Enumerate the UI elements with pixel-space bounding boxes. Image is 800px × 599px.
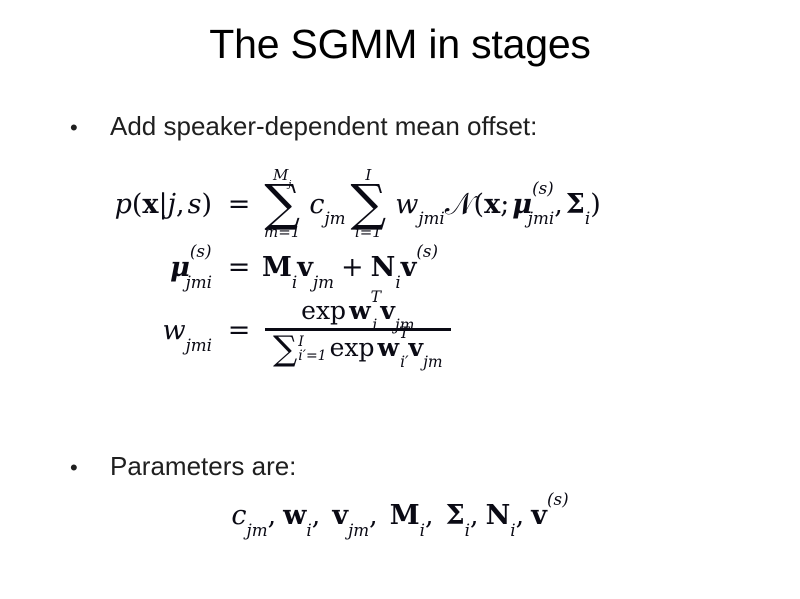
equation-mean-rhs: Mivjm + Niv(s)	[262, 252, 438, 283]
symbol-w-sub: jmi	[418, 208, 444, 228]
den-weight-vector: wTi′	[377, 333, 408, 362]
mean-mu: μ(s)jmi	[512, 189, 554, 220]
equation-weights-rhs: expwTivjm ∑Ii′=1expwTi′vjm	[262, 297, 454, 364]
symbol-x: x	[142, 189, 158, 220]
param-M: Mi	[390, 500, 425, 531]
vector-v-speaker: v(s)	[401, 252, 438, 283]
param-w-symbol: w	[283, 500, 306, 531]
num-weight-vector: wTi	[349, 296, 377, 325]
sigma-glyph-2: ∑	[351, 182, 387, 225]
symbol-w: w	[395, 189, 418, 220]
symbol-v1: v	[297, 252, 313, 283]
symbol-N-sub: i	[395, 272, 400, 292]
page-title: The SGMM in stages	[0, 22, 800, 67]
param-M-symbol: M	[390, 500, 420, 531]
summation-over-m: Mj ∑ m=1	[264, 168, 300, 240]
limit-M-sub: j	[288, 179, 291, 190]
symbol-den-w-sup: T	[399, 324, 409, 342]
den-v-vector: vjm	[409, 333, 443, 362]
bullet-text-2: Parameters are:	[110, 452, 296, 482]
bullet-marker-icon-2: •	[70, 457, 110, 479]
parameters-list: cjm,wi,vjm,Mi,Σi,Ni,v(s)	[0, 500, 800, 531]
equals-sign-3: =	[216, 315, 262, 346]
equation-mean-lhs: μ(s)jmi	[44, 252, 216, 283]
symbol-w-2-sub: jmi	[186, 335, 212, 355]
param-v-sub: jm	[348, 520, 369, 540]
summation-lower-limit-i: i=1	[355, 225, 382, 240]
symbol-mu-2-sup: (s)	[190, 241, 212, 261]
symbol-num-w: w	[349, 296, 371, 325]
param-sep-2: ,	[312, 500, 321, 531]
matrix-N: Ni	[371, 252, 401, 283]
symbol-sigma-sub: i	[585, 208, 590, 228]
param-N-symbol: N	[486, 500, 511, 531]
symbol-N: N	[371, 252, 396, 283]
exp-operator-num: exp	[301, 296, 346, 325]
summation-limits-i-prime: Ii′=1	[298, 335, 326, 364]
symbol-v2: v	[401, 252, 417, 283]
sigma-glyph-3: ∑	[273, 336, 297, 363]
symbol-den-w-sub: i′	[400, 353, 408, 371]
bullet-marker-icon: •	[70, 117, 110, 139]
equation-mean: μ(s)jmi = Mivjm + Niv(s)	[44, 252, 764, 283]
symbol-mid: |	[159, 189, 168, 220]
den-sum-lower: i′=1	[298, 349, 326, 364]
symbol-v1-sub: jm	[313, 272, 334, 292]
paren-open: (	[132, 189, 143, 220]
coefficient-c: cjm	[309, 189, 345, 220]
equation-likelihood-lhs: p(x|j,s)	[44, 189, 216, 220]
summation-lower-limit-m: m=1	[264, 225, 300, 240]
paren-close: )	[201, 189, 212, 220]
symbol-w-2: w	[162, 315, 185, 346]
semicolon: ;	[500, 189, 509, 220]
symbol-mu-sup: (s)	[532, 178, 554, 198]
equals-sign-1: =	[216, 189, 262, 220]
vector-v-jm: vjm	[297, 252, 334, 283]
softmax-fraction: expwTivjm ∑Ii′=1expwTi′vjm	[265, 297, 451, 364]
weight-w-lhs: wjmi	[162, 315, 212, 346]
mean-mu-lhs: μ(s)jmi	[170, 252, 212, 283]
weight-w: wjmi	[395, 189, 445, 220]
param-sep-6: ,	[516, 500, 525, 531]
equals-sign-2: =	[216, 252, 262, 283]
bullet-item-1: • Add speaker-dependent mean offset:	[70, 112, 537, 142]
comma-2: ,	[554, 189, 563, 220]
symbol-M-sub: i	[292, 272, 297, 292]
param-c: cjm	[231, 500, 267, 531]
param-c-sub: jm	[247, 520, 268, 540]
slide-canvas: The SGMM in stages • Add speaker-depende…	[0, 0, 800, 599]
symbol-num-v: v	[380, 296, 395, 325]
symbol-p: p	[115, 189, 132, 220]
param-sep-4: ,	[425, 500, 434, 531]
symbol-num-w-sub: i	[372, 316, 377, 334]
param-Sigma-symbol: Σ	[446, 500, 465, 531]
equation-likelihood-rhs: Mj ∑ m=1 cjm I ∑ i=1 wjmi 𝒩(x;μ(s)jmi,Σi…	[262, 168, 601, 240]
param-v-jm: vjm	[332, 500, 369, 531]
matrix-M: Mi	[262, 252, 297, 283]
gaussian-symbol: 𝒩	[445, 187, 474, 222]
param-v-symbol: v	[332, 500, 348, 531]
gaussian-arg-x: x	[484, 189, 500, 220]
symbol-mu-sub: jmi	[528, 208, 554, 228]
equation-block: p(x|j,s) = Mj ∑ m=1 cjm I ∑ i=1 wjmi	[44, 168, 764, 370]
symbol-den-v: v	[409, 333, 424, 362]
summation-over-i: I ∑ i=1	[351, 168, 387, 240]
bullet-text-1: Add speaker-dependent mean offset:	[110, 112, 537, 142]
symbol-den-w: w	[377, 333, 399, 362]
gaussian-paren-open: (	[474, 189, 485, 220]
equation-likelihood: p(x|j,s) = Mj ∑ m=1 cjm I ∑ i=1 wjmi	[44, 168, 764, 240]
plus-sign: +	[341, 252, 364, 283]
param-v-speaker: v(s)	[531, 500, 568, 531]
symbol-sigma-cap: Σ	[566, 189, 585, 220]
den-sum-upper: I	[298, 335, 326, 350]
symbol-mu-2-sub: jmi	[186, 272, 212, 292]
symbol-j: j	[168, 189, 176, 220]
param-sep-1: ,	[268, 500, 277, 531]
param-Sigma: Σi	[446, 500, 470, 531]
param-sep-5: ,	[470, 500, 479, 531]
symbol-M: M	[262, 252, 292, 283]
param-M-sub: i	[420, 520, 425, 540]
equation-weights-lhs: wjmi	[44, 315, 216, 346]
symbol-c: c	[309, 189, 324, 220]
param-Sigma-sub: i	[465, 520, 470, 540]
symbol-num-w-sup: T	[371, 288, 381, 306]
symbol-s: s	[188, 189, 202, 220]
symbol-den-v-sub: jm	[423, 353, 443, 371]
param-v2-symbol: v	[531, 500, 547, 531]
covariance-sigma: Σi	[566, 189, 590, 220]
symbol-c-sub: jm	[324, 208, 345, 228]
summation-over-i-prime: ∑Ii′=1	[273, 335, 327, 364]
param-N: Ni	[486, 500, 516, 531]
symbol-v2-sup: (s)	[416, 241, 438, 261]
param-N-sub: i	[510, 520, 515, 540]
num-v-vector: vjm	[380, 296, 414, 325]
param-w-sub: i	[306, 520, 311, 540]
sigma-glyph-1: ∑	[264, 182, 300, 225]
bullet-item-2: • Parameters are:	[70, 452, 296, 482]
param-w: wi	[283, 500, 312, 531]
gaussian-paren-close: )	[590, 189, 601, 220]
param-sep-3: ,	[369, 500, 378, 531]
param-c-symbol: c	[231, 500, 246, 531]
symbol-comma: ,	[176, 189, 185, 220]
param-v2-sup: (s)	[547, 489, 569, 509]
equation-weights: wjmi = expwTivjm ∑Ii′=1expwTi′vjm	[44, 297, 764, 364]
exp-operator-den: exp	[330, 333, 375, 362]
fraction-denominator: ∑Ii′=1expwTi′vjm	[265, 331, 451, 364]
